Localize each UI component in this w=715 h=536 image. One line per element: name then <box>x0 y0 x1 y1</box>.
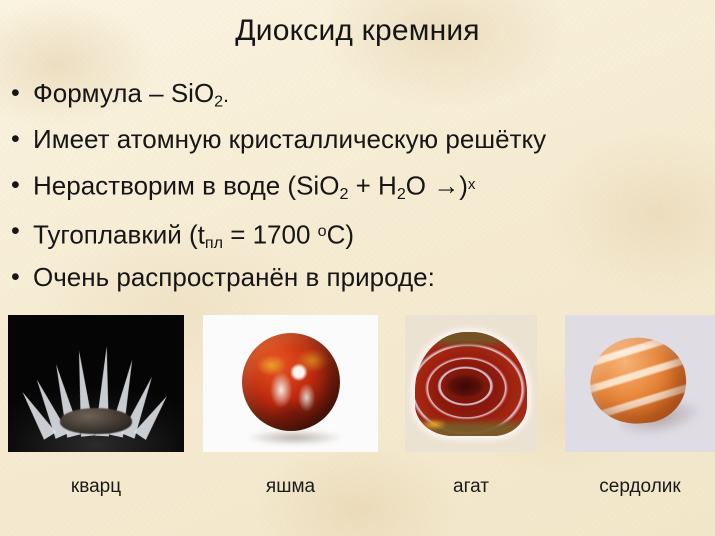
bullet-marker-icon: • <box>11 211 33 251</box>
bullet-fragment-period: . <box>223 84 229 107</box>
mineral-photo-quartz <box>8 315 184 452</box>
mineral-photo-carnelian <box>565 315 715 452</box>
bullet-text-refractory: Тугоплавкий (tпл = 1700 oC) <box>33 211 354 263</box>
agate-slice <box>415 332 527 436</box>
mineral-photo-agate <box>405 315 537 452</box>
bullet-fragment: O →) <box>406 171 468 201</box>
bullet-fragment-sub: пл <box>205 234 223 252</box>
quartz-crystal-cluster <box>37 344 155 436</box>
jasper-sphere <box>242 333 340 431</box>
jasper-image <box>203 315 378 452</box>
bullet-fragment-sub: 2 <box>397 185 406 203</box>
caption-quartz: кварц <box>8 474 184 500</box>
mineral-gallery <box>0 315 715 452</box>
list-item: • Формула – SiO2. <box>11 73 711 119</box>
bullet-marker-icon: • <box>11 165 33 205</box>
bullet-text-lattice: Имеет атомную кристаллическую решётку <box>33 119 546 159</box>
bullet-text-insoluble: Нерастворим в воде (SiO2 + H2O →)x <box>33 165 475 214</box>
slide: Диоксид кремния • Формула – SiO2. • Имее… <box>0 0 715 536</box>
bullet-text-formula: Формула – SiO2. <box>33 73 229 122</box>
quartz-image <box>8 315 184 452</box>
list-item: • Имеет атомную кристаллическую решётку <box>11 119 711 165</box>
carnelian-image <box>565 315 715 452</box>
bullet-marker-icon: • <box>11 119 33 159</box>
bullet-fragment: C) <box>327 219 354 249</box>
mineral-photo-jasper <box>203 315 378 452</box>
bullet-fragment-degree: o <box>318 222 327 240</box>
caption-agate: агат <box>405 474 537 500</box>
bullet-marker-icon: • <box>11 73 33 113</box>
agate-image <box>405 315 537 452</box>
bullet-fragment-sup: x <box>468 176 476 193</box>
jasper-drop-shadow <box>246 430 342 445</box>
bullet-text-abundance: Очень распространён в природе: <box>33 257 435 297</box>
list-item: • Очень распространён в природе: <box>11 257 711 303</box>
list-item: • Тугоплавкий (tпл = 1700 oC) <box>11 211 711 257</box>
page-title: Диоксид кремния <box>0 14 715 48</box>
caption-carnelian: сердолик <box>565 474 715 500</box>
bullet-marker-icon: • <box>11 257 33 297</box>
bullet-fragment: Нерастворим в воде (SiO <box>33 171 339 201</box>
bullet-fragment: Формула – SiO <box>33 78 214 108</box>
gallery-captions: кварц яшма агат сердолик <box>0 474 715 504</box>
caption-jasper: яшма <box>203 474 378 500</box>
bullet-fragment: = 1700 <box>223 219 318 249</box>
list-item: • Нерастворим в воде (SiO2 + H2O →)x <box>11 165 711 211</box>
agate-gold-patch <box>421 419 447 430</box>
bullet-fragment-sub: 2 <box>214 93 223 111</box>
bullet-fragment: + H <box>348 171 396 201</box>
bullet-list: • Формула – SiO2. • Имеет атомную криста… <box>11 73 711 303</box>
bullet-fragment: Тугоплавкий (t <box>33 219 205 249</box>
